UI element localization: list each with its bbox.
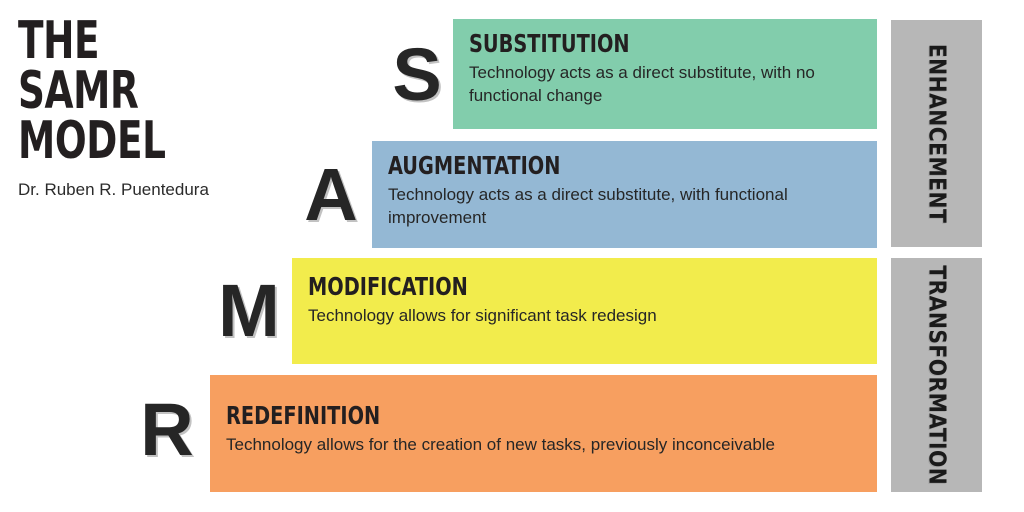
- level-letter-a: A: [296, 158, 366, 232]
- title-line-3: MODEL: [18, 116, 282, 166]
- level-title-modification: MODIFICATION: [308, 272, 784, 301]
- title-line-1: THE: [18, 16, 282, 66]
- level-description-augmentation: Technology acts as a direct substitute, …: [388, 183, 850, 229]
- phase-box-enhancement: ENHANCEMENT: [891, 20, 982, 247]
- level-title-substitution: SUBSTITUTION: [469, 29, 806, 58]
- title-line-2: SAMR: [18, 66, 282, 116]
- level-description-modification: Technology allows for significant task r…: [308, 304, 861, 327]
- level-description-substitution: Technology acts as a direct substitute, …: [469, 61, 861, 107]
- level-title-augmentation: AUGMENTATION: [388, 151, 795, 180]
- level-letter-r: R: [132, 393, 202, 467]
- level-letter-m: M: [214, 274, 284, 348]
- samr-model-diagram: THE SAMR MODEL Dr. Ruben R. Puentedura S…: [0, 0, 1024, 512]
- level-band-modification: MODIFICATION Technology allows for signi…: [292, 258, 877, 364]
- level-band-augmentation: AUGMENTATION Technology acts as a direct…: [372, 141, 877, 248]
- phase-label-enhancement: ENHANCEMENT: [924, 44, 950, 223]
- phase-box-transformation: TRANSFORMATION: [891, 258, 982, 492]
- level-letter-s: S: [382, 38, 452, 112]
- level-band-substitution: SUBSTITUTION Technology acts as a direct…: [453, 19, 877, 129]
- level-band-redefinition: REDEFINITION Technology allows for the c…: [210, 375, 877, 492]
- level-title-redefinition: REDEFINITION: [226, 401, 772, 430]
- phase-label-transformation: TRANSFORMATION: [924, 265, 950, 485]
- level-description-redefinition: Technology allows for the creation of ne…: [226, 433, 861, 456]
